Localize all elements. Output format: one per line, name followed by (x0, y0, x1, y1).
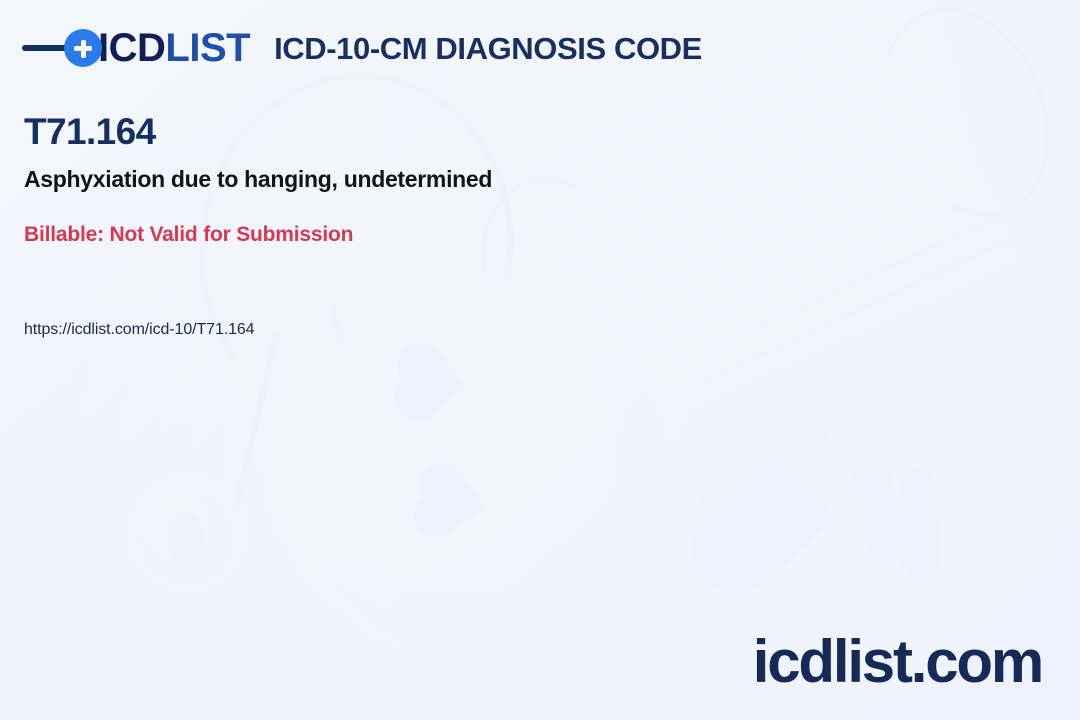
source-url[interactable]: https://icdlist.com/icd-10/T71.164 (24, 320, 254, 339)
site-watermark: icdlist.com (753, 632, 1042, 692)
logo-wordmark: ICDLIST (98, 28, 250, 68)
icd-code-card: ICDLIST ICD-10-CM DIAGNOSIS CODE T71.164… (0, 0, 1080, 720)
header: ICDLIST ICD-10-CM DIAGNOSIS CODE (22, 28, 702, 68)
plus-icon-bar-vertical (81, 40, 86, 58)
diagnosis-code: T71.164 (24, 112, 156, 153)
card-content: ICDLIST ICD-10-CM DIAGNOSIS CODE T71.164… (0, 0, 1080, 720)
logo-word-list: LIST (165, 26, 250, 70)
plus-icon (64, 29, 102, 67)
logo-word-icd: ICD (98, 26, 165, 70)
diagnosis-description: Asphyxiation due to hanging, undetermine… (24, 166, 492, 194)
icdlist-logo[interactable]: ICDLIST (22, 28, 250, 68)
page-title: ICD-10-CM DIAGNOSIS CODE (274, 33, 702, 64)
billable-status: Billable: Not Valid for Submission (24, 222, 353, 247)
dash-icon (22, 45, 70, 51)
